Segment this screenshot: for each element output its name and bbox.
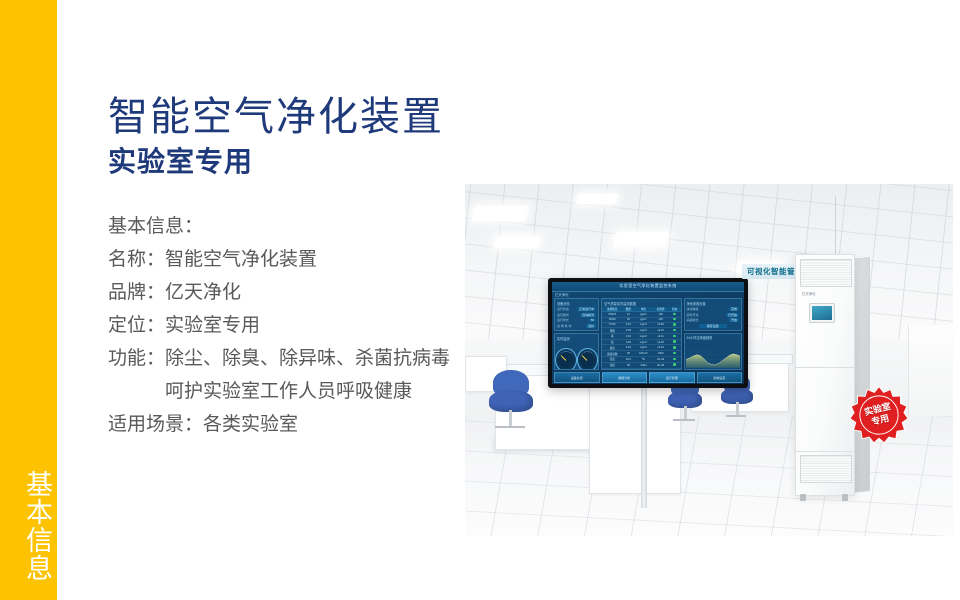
cabinet-door-seam bbox=[796, 451, 854, 452]
param-row: 杀菌模式 开启 bbox=[685, 318, 741, 322]
air-quality-table: 监测项目 数值 单位 标准值 状态 PM2.5 12 μg/m³ bbox=[602, 307, 680, 371]
card-title: 空气质量实时监测数据 bbox=[602, 299, 680, 306]
status-row: 滤 网 寿 命 良好 bbox=[555, 324, 598, 328]
status-dot bbox=[673, 335, 676, 338]
sidebar: 基本信息 bbox=[0, 0, 57, 600]
card-trend-chart: 24小时洁净度趋势 bbox=[684, 333, 742, 370]
status-dot bbox=[673, 318, 676, 321]
param-row: 净化等级 高效 bbox=[685, 307, 741, 311]
chair-stem bbox=[736, 402, 739, 415]
cell-value: 0.25 bbox=[622, 368, 634, 370]
info-line-scene: 适用场景：各类实验室 bbox=[108, 408, 468, 441]
card-device-status: 设备状态 运行状态 正常运行中 运行模式 自动模式 运行时长 bbox=[554, 298, 599, 331]
dashboard-logo: 亿天净化 bbox=[555, 292, 569, 297]
sidebar-vertical-label: 基本信息 bbox=[18, 470, 52, 582]
info-line-function: 功能：除尘、除臭、除异味、杀菌抗病毒 bbox=[108, 342, 468, 375]
status-value: 8h bbox=[589, 318, 596, 322]
status-dot bbox=[673, 346, 676, 349]
info-line-brand: 品牌：亿天净化 bbox=[108, 276, 468, 309]
caster bbox=[800, 494, 806, 501]
info-heading: 基本信息： bbox=[108, 210, 468, 243]
status-key: 滤 网 寿 命 bbox=[557, 324, 572, 328]
table-row: 风速 0.25 m/s ≤0.30 bbox=[602, 368, 680, 370]
tab-operation-management[interactable]: 运行管理 bbox=[649, 372, 695, 383]
cabinet-side-panel bbox=[853, 257, 870, 493]
param-save-row: 保存设置 bbox=[685, 324, 741, 328]
param-key: 净化等级 bbox=[687, 307, 699, 311]
param-key: 杀菌模式 bbox=[687, 318, 699, 322]
dashboard-col-mid: 空气质量实时监测数据 监测项目 数值 单位 标准值 状态 bbox=[601, 298, 681, 370]
info-line-name: 名称：智能空气净化装置 bbox=[108, 243, 468, 276]
status-value: 正常运行中 bbox=[577, 307, 596, 311]
card-air-quality-table: 空气质量实时监测数据 监测项目 数值 单位 标准值 状态 bbox=[601, 298, 681, 370]
card-title: 设备状态 bbox=[555, 299, 598, 306]
status-key: 运行状态 bbox=[557, 307, 569, 311]
tab-data-analysis[interactable]: 数据分析 bbox=[602, 372, 648, 383]
product-seal-badge: 实验室 专用 bbox=[850, 386, 908, 444]
dashboard-col-right: 净化参数设置 净化等级 高效 定时开关 已开启 杀菌模式 bbox=[684, 298, 742, 370]
monitor-stand bbox=[641, 388, 647, 508]
vent-grille-top bbox=[800, 259, 852, 287]
dashboard-button-bar: 设备总览 数据分析 运行管理 系统设置 bbox=[554, 372, 742, 383]
ceiling-light bbox=[613, 232, 669, 247]
status-dot bbox=[673, 358, 676, 361]
card-gauges: 实时监测 数据每分钟自动刷新 bbox=[554, 333, 599, 370]
cell-standard: ≤0.30 bbox=[653, 368, 669, 370]
status-value: 自动模式 bbox=[580, 313, 596, 317]
chair-stem bbox=[509, 410, 512, 426]
card-title: 净化参数设置 bbox=[685, 299, 741, 306]
ceiling-light bbox=[576, 194, 618, 204]
cell-unit: m/s bbox=[634, 368, 652, 370]
trend-chart-svg bbox=[686, 346, 740, 368]
save-settings-button[interactable]: 保存设置 bbox=[699, 324, 727, 328]
status-key: 运行时长 bbox=[557, 318, 569, 322]
status-dot bbox=[673, 352, 676, 355]
dashboard-screen: 实验室空气净化装置监控系统 亿天净化 设备状态 运行状态 正常运行中 运行模式 bbox=[552, 282, 744, 384]
chair-base bbox=[495, 426, 525, 428]
param-value: 已开启 bbox=[726, 313, 739, 317]
param-key: 定时开关 bbox=[687, 313, 699, 317]
product-photo: 实验室空气净化装置监控系统 亿天净化 设备状态 运行状态 正常运行中 运行模式 bbox=[465, 184, 953, 536]
ceiling-light bbox=[494, 236, 541, 248]
cabinet-front-panel: 亿天净化 bbox=[795, 254, 855, 496]
card-purify-params: 净化参数设置 净化等级 高效 定时开关 已开启 杀菌模式 bbox=[684, 298, 742, 331]
chair-base bbox=[726, 415, 746, 417]
tab-device-overview[interactable]: 设备总览 bbox=[554, 372, 600, 383]
antenna bbox=[835, 196, 836, 254]
status-dot bbox=[673, 369, 676, 370]
info-block: 基本信息： 名称：智能空气净化装置 品牌：亿天净化 定位：实验室专用 功能：除尘… bbox=[108, 210, 468, 441]
info-line-function-cont: 呵护实验室工作人员呼吸健康 bbox=[108, 375, 468, 408]
cabinet-touchscreen[interactable] bbox=[809, 303, 835, 323]
status-value: 良好 bbox=[586, 324, 596, 328]
status-row: 运行模式 自动模式 bbox=[555, 313, 598, 317]
status-dot bbox=[673, 323, 676, 326]
status-dot bbox=[673, 313, 676, 316]
dashboard-title: 实验室空气净化装置监控系统 bbox=[619, 283, 676, 289]
gauge-ticks bbox=[558, 351, 574, 369]
param-value: 开启 bbox=[729, 318, 739, 322]
info-line-position: 定位：实验室专用 bbox=[108, 309, 468, 342]
dashboard-body: 设备状态 运行状态 正常运行中 运行模式 自动模式 运行时长 bbox=[554, 298, 742, 370]
ceiling-light bbox=[471, 206, 529, 221]
dashboard-col-left: 设备状态 运行状态 正常运行中 运行模式 自动模式 运行时长 bbox=[554, 298, 599, 370]
gauge-ticks bbox=[580, 351, 596, 369]
gauge-cleanliness bbox=[555, 348, 577, 370]
chair-seat bbox=[489, 390, 533, 412]
chair-stem bbox=[684, 406, 687, 419]
cabinet-brand-label: 亿天净化 bbox=[802, 291, 816, 296]
wall-monitor: 实验室空气净化装置监控系统 亿天净化 设备状态 运行状态 正常运行中 运行模式 bbox=[548, 278, 748, 388]
status-dot bbox=[673, 340, 676, 343]
gauge-airflow bbox=[577, 348, 599, 370]
cabinet-door-seam bbox=[796, 367, 854, 368]
slide-root: 基本信息 智能空气净化装置 实验室专用 基本信息： 名称：智能空气净化装置 品牌… bbox=[0, 0, 960, 600]
status-dot bbox=[673, 363, 676, 366]
trend-chart bbox=[685, 340, 741, 370]
param-value: 高效 bbox=[729, 307, 739, 311]
cell-item: 风速 bbox=[602, 368, 622, 370]
cell-status bbox=[669, 368, 681, 370]
touchscreen-display bbox=[812, 306, 832, 320]
page-title: 智能空气净化装置 bbox=[108, 94, 444, 140]
gauge-group bbox=[555, 341, 598, 370]
status-row: 运行状态 正常运行中 bbox=[555, 307, 598, 311]
chair-base bbox=[673, 419, 695, 421]
vent-grille-bottom bbox=[800, 455, 852, 483]
status-key: 运行模式 bbox=[557, 313, 569, 317]
param-row: 定时开关 已开启 bbox=[685, 313, 741, 317]
tab-system-settings[interactable]: 系统设置 bbox=[697, 372, 743, 383]
lab-chair bbox=[487, 370, 535, 438]
caster bbox=[842, 494, 848, 501]
status-dot bbox=[673, 329, 676, 332]
air-purifier-cabinet: 亿天净化 bbox=[795, 242, 871, 494]
status-row: 运行时长 8h bbox=[555, 318, 598, 322]
page-subtitle: 实验室专用 bbox=[108, 146, 253, 180]
